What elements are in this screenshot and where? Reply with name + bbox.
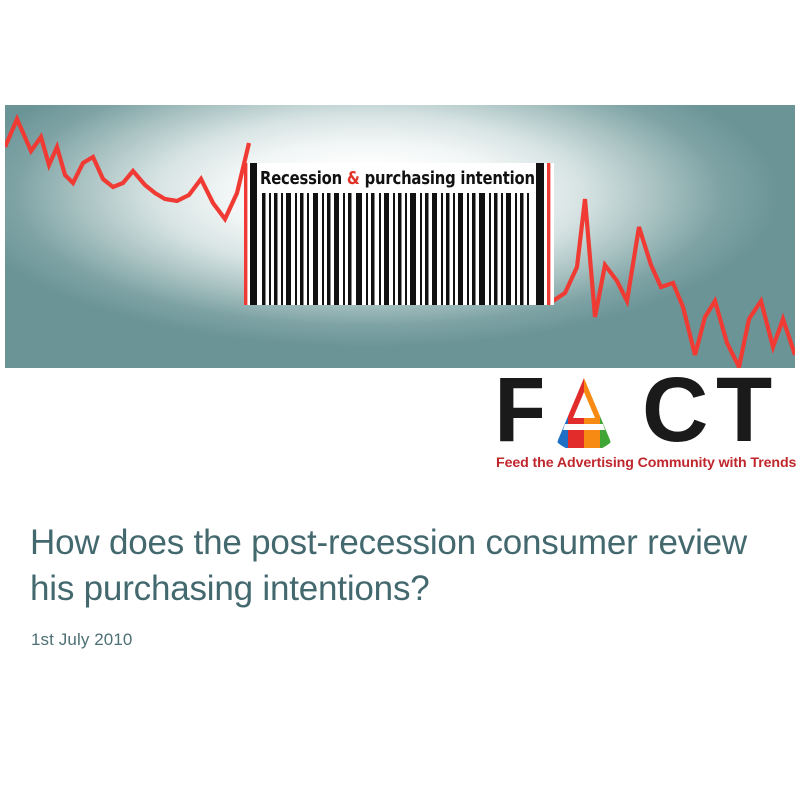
page-date: 1st July 2010 xyxy=(31,628,132,652)
barcode-graphic: Recession & purchasing intention xyxy=(240,163,560,305)
logo-letter-f: F xyxy=(494,366,548,454)
barcode-label-ampersand: & xyxy=(347,169,360,189)
chart-line-right xyxy=(553,199,795,367)
slide-root: Recession & purchasing intention F xyxy=(0,0,800,800)
fact-logo: F xyxy=(494,368,796,480)
banner-image: Recession & purchasing intention xyxy=(5,105,795,368)
logo-letter-c: C xyxy=(642,366,706,454)
barcode-label-prefix: Recession xyxy=(260,169,347,189)
barcode-guard-left xyxy=(244,163,247,305)
barcode-label-suffix: purchasing intention xyxy=(360,169,535,189)
barcode-label: Recession & purchasing intention xyxy=(260,167,525,191)
logo-letter-a-pie-icon xyxy=(542,374,626,452)
fact-logo-mark: F xyxy=(494,368,796,456)
logo-letter-t: T xyxy=(716,366,770,454)
barcode-guard-right xyxy=(547,163,550,305)
chart-line-left xyxy=(5,119,249,219)
logo-tagline: Feed the Advertising Community with Tren… xyxy=(496,454,796,472)
page-title: How does the post-recession consumer rev… xyxy=(30,520,760,612)
